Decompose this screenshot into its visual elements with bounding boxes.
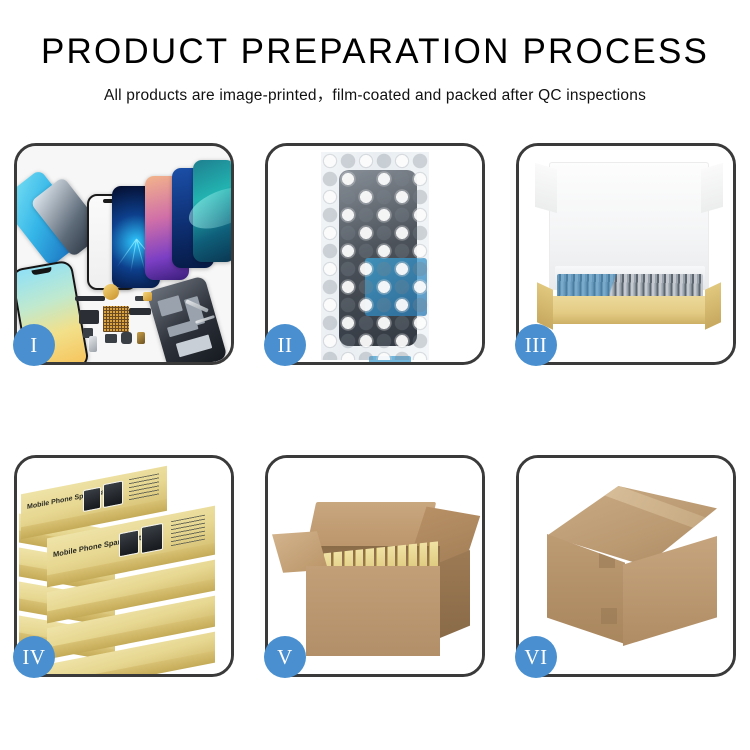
step-badge-3: III	[515, 324, 557, 366]
steps-grid: I II	[14, 143, 736, 677]
header: PRODUCT PREPARATION PROCESS All products…	[0, 0, 750, 105]
bubble-wrap-package	[321, 152, 429, 360]
open-shipping-carton	[282, 488, 474, 666]
part-flex-cable-2	[79, 310, 99, 324]
part-taptic	[137, 332, 145, 344]
part-sim-tray	[89, 336, 97, 352]
bubble-highlights	[321, 152, 429, 360]
page-subtitle: All products are image-printed，film-coat…	[0, 83, 750, 105]
box-phone-art-3	[119, 529, 139, 557]
step-panel-5: V	[265, 455, 485, 677]
part-flex-cable-3	[129, 308, 151, 315]
step-badge-2: II	[264, 324, 306, 366]
part-speaker	[121, 332, 132, 344]
step-badge-6: VI	[515, 636, 557, 678]
part-gold-clip	[143, 292, 152, 301]
box-spec-lines-1	[129, 473, 159, 501]
part-flex-cable-1	[75, 296, 105, 301]
box-phone-art-4	[141, 523, 163, 554]
box-spec-lines-2	[171, 515, 205, 547]
step-badge-5: V	[264, 636, 306, 678]
page-title: PRODUCT PREPARATION PROCESS	[0, 34, 750, 69]
part-gold-disc	[103, 284, 119, 300]
step-badge-4: IV	[13, 636, 55, 678]
part-tool-2	[195, 315, 215, 324]
step-panel-2: II	[265, 143, 485, 365]
step-panel-6: VI	[516, 455, 736, 677]
step-badge-1: I	[13, 324, 55, 366]
step-panel-4: Mobile Phone Spare Parts Mobile Phone Sp…	[14, 455, 234, 677]
wrapped-parts-row	[557, 274, 703, 298]
part-tool-1	[185, 299, 209, 312]
packing-tape	[592, 478, 710, 532]
sealed-shipping-carton	[537, 486, 725, 662]
product-preparation-infographic: PRODUCT PREPARATION PROCESS All products…	[0, 0, 750, 750]
box-phone-art-1	[83, 487, 101, 512]
carton-right-face	[440, 550, 470, 638]
step-panel-1: I	[14, 143, 234, 365]
step-panel-3: III	[516, 143, 736, 365]
part-small-2	[105, 334, 117, 343]
carton-tab-lower	[601, 608, 617, 624]
carton-front-face	[306, 566, 440, 656]
box-phone-art-2	[103, 480, 123, 508]
part-ic-grid	[103, 306, 129, 332]
box-front-kraft	[549, 296, 709, 324]
